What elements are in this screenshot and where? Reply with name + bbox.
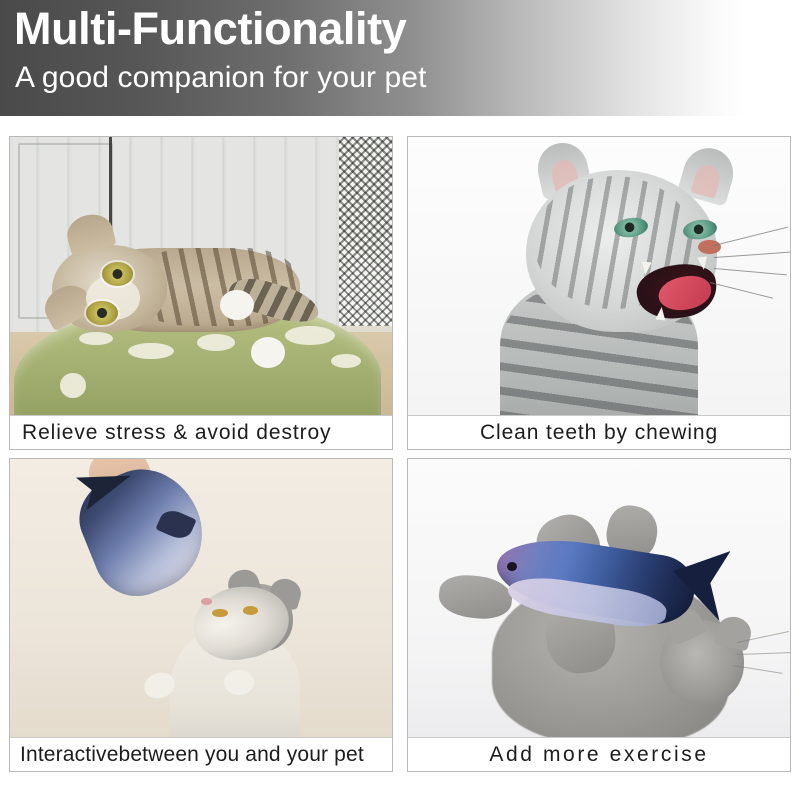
photo-cat-showing-teeth [408,137,790,415]
cat-whisker [710,282,773,299]
cat-eye [86,301,117,325]
lattice-vent [336,137,392,326]
panel-caption-add-exercise: Add more exercise [408,737,790,771]
feature-panel-relieve-stress: Relieve stress & avoid destroy [9,136,393,450]
cat-whisker [714,251,790,258]
cat-nose [201,598,212,605]
fish-toy-eye [507,562,517,571]
panel-caption-interactive: Interactivebetween you and your pet [10,737,392,771]
cat-eye [243,606,258,614]
feature-panel-clean-teeth: Clean teeth by chewing [407,136,791,450]
cat-whisker [714,268,786,275]
cat-eye [102,262,133,286]
cat-paw [251,337,285,368]
feature-panel-add-exercise: Add more exercise [407,458,791,772]
panel-caption-clean-teeth: Clean teeth by chewing [408,415,790,449]
cat-fang [640,262,651,276]
page-subtitle: A good companion for your pet [15,60,427,96]
panel-caption-relieve-stress: Relieve stress & avoid destroy [10,415,392,449]
cat-fang [656,306,667,320]
feature-panel-interactive: Interactivebetween you and your pet [9,458,393,772]
photo-cat-on-shredded-chair [10,137,392,415]
feature-grid: Relieve stress & avoid destroy Clean tee… [0,116,800,800]
header-banner: Multi-Functionality A good companion for… [0,0,800,116]
cat-whisker [713,227,787,246]
page-title: Multi-Functionality [14,4,406,54]
cat-nose [698,240,721,254]
cat-whisker [736,652,789,655]
shredded-fabric [331,354,362,368]
cat-fang [697,256,709,270]
photo-cat-playing-with-fish-toy [408,459,790,737]
photo-hand-dangling-fish-toy [10,459,392,737]
